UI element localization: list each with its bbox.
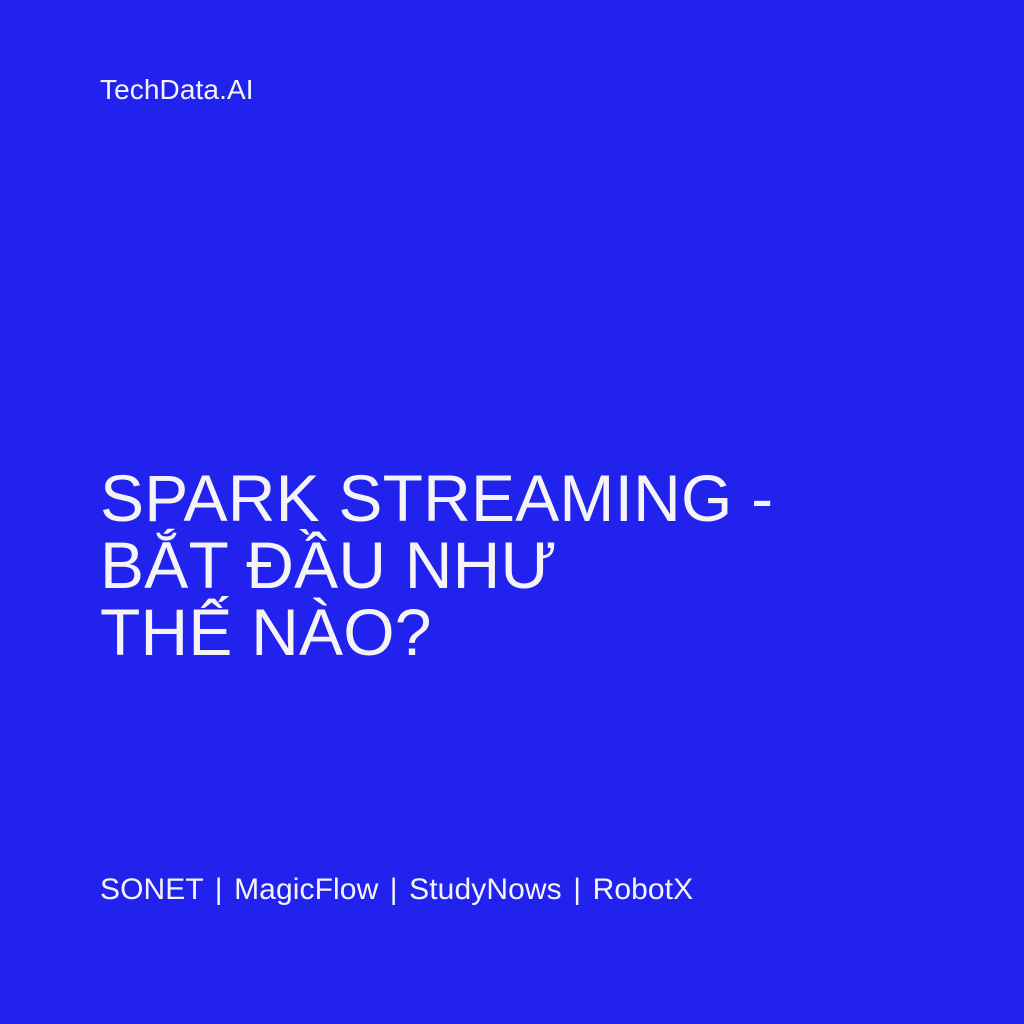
footer-separator: | — [387, 873, 401, 906]
page-title: SPARK STREAMING - BẮT ĐẦU NHƯ THẾ NÀO? — [100, 465, 820, 666]
page-title-line-1: SPARK STREAMING - — [100, 465, 820, 532]
footer-separator: | — [212, 873, 226, 906]
footer-link-magicflow[interactable]: MagicFlow — [234, 873, 378, 906]
footer-link-studynows[interactable]: StudyNows — [409, 873, 562, 906]
footer-link-sonet[interactable]: SONET — [100, 873, 203, 906]
page-title-line-3: THẾ NÀO? — [100, 599, 820, 666]
footer-separator: | — [570, 873, 584, 906]
footer-link-list: SONET | MagicFlow | StudyNows | RobotX — [100, 872, 693, 908]
promo-slide: TechData.AI SPARK STREAMING - BẮT ĐẦU NH… — [0, 0, 1024, 1024]
brand-logo: TechData.AI — [100, 74, 254, 106]
footer-link-robotx[interactable]: RobotX — [593, 873, 694, 906]
page-title-line-2: BẮT ĐẦU NHƯ — [100, 532, 820, 599]
